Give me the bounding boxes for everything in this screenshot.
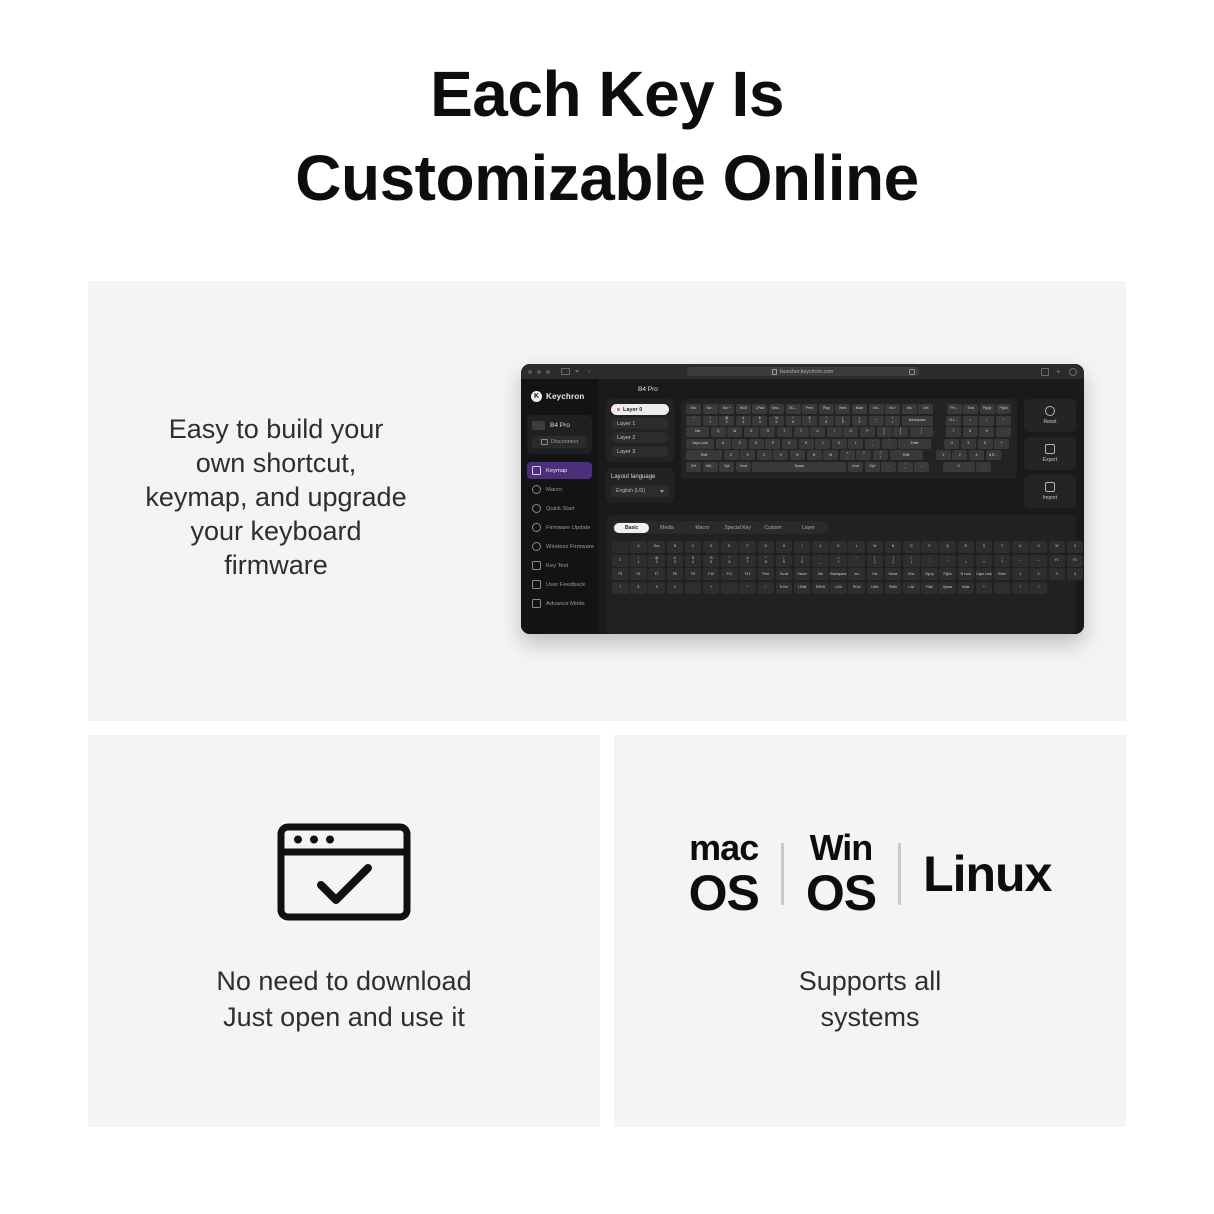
palette-key[interactable]: 4 [1067,568,1084,580]
top-copy-line-1: Easy to build your [106,412,446,446]
refresh-icon[interactable] [909,369,915,375]
sidebar-item-icon [532,542,541,551]
palette-key[interactable]: P [921,541,938,553]
palette-key[interactable]: 2 [612,555,629,567]
layout-language-select[interactable]: English (US) [611,485,669,497]
sidebar-toggle-icon[interactable] [561,368,570,375]
palette-key[interactable]: R [958,541,975,553]
keyboard-key[interactable]: Z [724,450,739,460]
palette-key[interactable]: Space [939,582,956,594]
top-copy-line-2: own shortcut, [106,446,446,480]
palette-key[interactable]: #3 [667,555,684,567]
palette-key[interactable]: %5 [703,555,720,567]
os-logo-top-text: Win [810,830,873,866]
keyboard-key[interactable]: C [757,450,772,460]
keyboard-key[interactable]: * [996,416,1011,426]
layer-label: Layer 1 [617,421,635,427]
palette-key[interactable]: LCtrl [830,582,847,594]
layer-item-layer-1[interactable]: Layer 1 [611,418,669,429]
plug-icon [541,439,548,445]
palette-key[interactable]: ;: [921,555,938,567]
keyboard-key[interactable]: 6 [978,439,993,449]
palette-key[interactable]: RCtrl [848,582,865,594]
sidebar-item-user-feedback[interactable]: User Feedback [527,576,592,593]
os-logo-top-text: mac [689,830,758,866]
palette-key[interactable]: M [867,541,884,553]
palette-key[interactable]: L [848,541,865,553]
tab-macro[interactable]: Macro [685,523,720,533]
keyboard-key[interactable]: A [716,439,731,449]
keyboard-key[interactable]: Tab [686,427,709,437]
palette-key[interactable]: Esc [648,541,665,553]
page-title: Each Key Is Customizable Online [0,52,1214,220]
br-caption-line-1: Supports all [614,963,1126,999]
palette-key[interactable]: LAlt [903,582,920,594]
page-root: Each Key Is Customizable Online Easy to … [0,0,1214,1214]
keyboard-gap [931,462,941,472]
keyboard-key[interactable]: |\ [910,427,933,437]
palette-key[interactable]: Scroll [776,568,793,580]
palette-key[interactable]: J [812,541,829,553]
keyboard-key[interactable]: Shift [686,450,722,460]
keyboard-key[interactable]: ~` [686,416,701,426]
sidebar-item-label: Macro [546,487,562,493]
tab-overview-icon[interactable] [1069,368,1077,376]
palette-key[interactable]: F2 [1067,555,1084,567]
layer-active-dot-icon [617,408,620,411]
palette-key[interactable]: → [1030,555,1047,567]
palette-key[interactable]: Pause [794,568,811,580]
palette-key[interactable]: 9 [648,582,665,594]
keyboard-key[interactable]: Mute [852,404,867,414]
share-icon[interactable] [1041,368,1049,376]
new-tab-icon[interactable]: + [1056,369,1062,375]
sidebar-item-firmware-update[interactable]: Firmware Update [527,519,592,536]
palette-key[interactable]: Enter [994,568,1011,580]
keyboard-key[interactable]: >. [856,450,871,460]
keyboard-key[interactable]: - [996,427,1011,437]
palette-key[interactable]: D [703,541,720,553]
keyboard-key[interactable]: #3 [736,416,751,426]
keyboard-key[interactable]: MCtl [736,404,751,414]
keyboard-row: TabQWERTYUIOP{[}]|\789- [686,427,1012,437]
traffic-light-close-icon[interactable] [528,370,532,374]
palette-key[interactable]: X [1067,541,1084,553]
keyboard-key[interactable]: Shift [890,450,923,460]
top-copy-line-3: keymap, and upgrade [106,480,446,514]
export-icon [1045,444,1055,454]
keyboard-key[interactable]: :; [865,439,880,449]
keyboard-key[interactable]: $4 [752,416,767,426]
keyboard-key[interactable]: Esc [686,404,701,414]
keyboard-key[interactable]: Scr - [703,404,718,414]
keyboard-key[interactable]: R [760,427,775,437]
keyboard-key[interactable]: Prev [802,404,817,414]
keyboard-key[interactable]: 0 [943,462,975,472]
sidebar-item-quick-start[interactable]: Quick Start [527,500,592,517]
browser-check-icon [276,822,412,922]
os-logo-linux: Linux [923,849,1051,899]
keyboard-key[interactable]: !1 [703,416,718,426]
keyboard-key[interactable]: Del [918,404,933,414]
keyboard-gap [934,427,944,437]
palette-key[interactable]: ~` [848,555,865,567]
palette-key[interactable]: Backspace [830,568,847,580]
palette-key[interactable]: F7 [648,568,665,580]
os-logo-separator [781,843,784,905]
keyboard-key[interactable]: 2 [952,450,967,460]
keyboard-key[interactable]: Play [819,404,834,414]
palette-key[interactable]: ]} [885,555,902,567]
keyboard-key[interactable]: Caps Lock [686,439,714,449]
palette-key[interactable]: (9 [776,555,793,567]
palette-key[interactable]: * [739,582,756,594]
palette-key[interactable]: K [830,541,847,553]
sidebar-item-label: Firmware Update [546,525,590,531]
keyboard-key[interactable]: W [727,427,742,437]
chevron-down-icon[interactable] [575,370,579,373]
top-card-copy: Easy to build your own shortcut, keymap,… [106,412,446,582]
keyboard-key[interactable]: N E... [986,450,1001,460]
keyboard-key[interactable]: 9 [979,427,994,437]
keyboard-key[interactable]: ?/ [873,450,888,460]
sidebar-item-label: Key Test [546,563,568,569]
keyboard-key[interactable]: 8 [963,427,978,437]
keyboard-key[interactable]: PgDn [996,404,1011,414]
keyboard-key[interactable]: B [790,450,805,460]
palette-key[interactable]: /? [994,555,1011,567]
palette-key[interactable]: A [630,541,647,553]
palette-key[interactable]: ,< [958,555,975,567]
browser-titlebar: ‹ launcher.keychron.com + [521,364,1084,379]
back-arrow-icon[interactable]: ‹ [588,368,590,375]
layer-panel: Layer 0Layer 1Layer 2Layer 3 Layout lang… [606,399,674,503]
palette-key[interactable]: Print [758,568,775,580]
palette-key[interactable]: I [794,541,811,553]
keyboard-key[interactable]: M [823,450,838,460]
keyboard-key[interactable]: ^6 [786,416,801,426]
keyboard-key[interactable]: = [963,416,978,426]
palette-key[interactable]: -_ [812,555,829,567]
keyboard-key[interactable]: Q [711,427,726,437]
os-logo-mac: macOS [689,830,759,918]
keyboard-key[interactable]: += [885,416,900,426]
palette-key[interactable]: F1 [1049,555,1066,567]
keyboard-key[interactable]: → [914,462,929,472]
palette-key[interactable]: F [739,541,756,553]
palette-key[interactable]: PgDn [939,568,956,580]
address-bar[interactable]: launcher.keychron.com [687,367,919,376]
palette-key[interactable]: RWin [885,582,902,594]
keyboard-key[interactable]: "' [882,439,897,449]
disconnect-button[interactable]: Disconnect [532,436,587,448]
palette-key[interactable]: Caps Lock [976,568,993,580]
keyboard-key[interactable]: U [810,427,825,437]
palette-key[interactable]: @2 [648,555,665,567]
palette-key[interactable]: *8 [758,555,775,567]
keyboard-key[interactable]: 5 [961,439,976,449]
keyboard-row: Caps LockASDFGHJKL:;"'Enter456+ [686,439,1012,449]
keyboard-key[interactable]: N L... [946,416,961,426]
keyboard-key[interactable]: V [773,450,788,460]
palette-key[interactable]: End [903,568,920,580]
palette-key[interactable]: - [721,582,738,594]
palette-key[interactable]: . [685,582,702,594]
keyboard-key[interactable]: Prt... [947,404,962,414]
keyboard-key[interactable]: + [994,439,1009,449]
palette-key[interactable]: ? [1030,582,1047,594]
palette-key[interactable]: T [994,541,1011,553]
keyboard-key[interactable]: Vol + [885,404,900,414]
palette-key[interactable]: 0 [667,582,684,594]
palette-key[interactable]: 8 [630,582,647,594]
keyboard-key[interactable]: O [843,427,858,437]
keyboard-key[interactable]: H [799,439,814,449]
palette-key[interactable]: S [976,541,993,553]
layer-item-layer-3[interactable]: Layer 3 [611,446,669,457]
sidebar-item-icon [532,504,541,513]
keyboard-key[interactable]: Cmd [848,462,863,472]
action-label: Import [1043,495,1057,501]
keyboard-row: ~`!1@2#3$4%5^6&7*8(9)0_-+=BackspaceN L..… [686,416,1012,426]
layer-item-layer-0[interactable]: Layer 0 [611,404,669,415]
keyboard-key[interactable]: SC... [786,404,801,414]
keyboard-key[interactable]: MO... [703,462,718,472]
keyboard-key[interactable]: N [807,450,822,460]
palette-key-blank[interactable] [612,541,629,553]
keyboard-key[interactable]: Enter [898,439,931,449]
palette-key[interactable]: ^6 [721,555,738,567]
tab-basic[interactable]: Basic [614,523,649,533]
tab-custom[interactable]: Custom [755,523,790,533]
palette-key[interactable]: [{ [867,555,884,567]
palette-key[interactable]: N Lock [958,568,975,580]
palette-key[interactable]: Mute [958,582,975,594]
keyboard-key[interactable]: I [827,427,842,437]
keyboard-key[interactable]: F [765,439,780,449]
device-name: B4 Pro [550,422,570,429]
sidebar-item-keymap[interactable]: Keymap [527,462,592,479]
keyboard-key[interactable]: Next [835,404,850,414]
sidebar-item-label: Keymap [546,468,567,474]
palette-key[interactable]: W [1049,541,1066,553]
keyboard-key[interactable]: LPad [752,404,767,414]
keyboard-key[interactable]: P [860,427,875,437]
keyboard-key[interactable]: @2 [719,416,734,426]
app-main: B4 Pro Layer 0Layer 1Layer 2Layer 3 Layo… [598,379,1084,634]
palette-key[interactable]: V [1030,541,1047,553]
keyboard-key[interactable]: {[ [877,427,892,437]
keyboard-key[interactable]: S [732,439,747,449]
tab-layer[interactable]: Layer [791,523,826,533]
palette-key[interactable]: =+ [830,555,847,567]
keyboard-key[interactable]: Vol - [869,404,884,414]
sidebar-item-icon [532,466,541,475]
palette-row: 7890.+-*/N EntLShiftRShiftLCtrlRCtrlLWin… [612,582,1070,594]
palette-key[interactable]: B [667,541,684,553]
keyboard-key[interactable]: }] [893,427,908,437]
keyboard-row: EscScr -Scr +MCtlLPadSea...SC...PrevPlay… [686,404,1012,414]
palette-key[interactable]: 3 [1049,568,1066,580]
palette-tabs: BasicMediaMacroSpecial KeyCustomLayer [612,521,828,534]
keyboard-key[interactable]: )0 [852,416,867,426]
palette-key[interactable]: N [885,541,902,553]
keyboard-key[interactable]: 7 [946,427,961,437]
palette-key[interactable]: U [1012,541,1029,553]
palette-key[interactable]: Home [885,568,902,580]
palette-key[interactable]: RShift [812,582,829,594]
palette-key[interactable]: !1 [630,555,647,567]
keyboard-key[interactable]: ↑↓ [898,462,913,472]
palette-key[interactable]: + [976,582,993,594]
keyboard-key[interactable]: Ctrl [686,462,701,472]
reset-button[interactable]: Reset [1024,399,1076,432]
layer-item-layer-2[interactable]: Layer 2 [611,432,669,443]
palette-key[interactable]: G [758,541,775,553]
sidebar-item-macro[interactable]: Macro [527,481,592,498]
keyboard-key[interactable]: Opt [719,462,734,472]
chevron-down-icon [660,490,664,493]
keyboard-key[interactable]: Ins [902,404,917,414]
sidebar-item-label: Advance Mode [546,601,585,607]
keyboard-key[interactable]: L [848,439,863,449]
keyboard-map[interactable]: EscScr -Scr +MCtlLPadSea...SC...PrevPlay… [681,399,1017,479]
lock-icon [772,369,777,375]
palette-key[interactable]: Q [939,541,956,553]
palette-key[interactable]: &7 [739,555,756,567]
keyboard-key[interactable]: 4 [944,439,959,449]
palette-key[interactable]: )0 [794,555,811,567]
keyboard-key[interactable]: <, [840,450,855,460]
palette-key[interactable]: LWin [867,582,884,594]
palette-key[interactable]: - [994,582,1011,594]
keyboard-gap [935,404,945,414]
keyboard-key[interactable]: PgUp [980,404,995,414]
palette-key[interactable]: F12 [739,568,756,580]
keyboard-key[interactable]: (9 [835,416,850,426]
palette-key[interactable]: $4 [685,555,702,567]
top-copy-line-4: your keyboard [106,514,446,548]
palette-key[interactable]: 7 [612,582,629,594]
palette-key[interactable]: \| [903,555,920,567]
traffic-light-zoom-icon[interactable] [546,370,550,374]
palette-key[interactable]: LShift [794,582,811,594]
br-caption-line-2: systems [614,999,1126,1035]
keyboard-key[interactable]: D [749,439,764,449]
palette-key[interactable]: 2 [1030,568,1047,580]
palette-key[interactable]: ? [1012,582,1029,594]
palette-key[interactable]: .> [976,555,993,567]
keyboard-key[interactable]: End [963,404,978,414]
address-bar-url: launcher.keychron.com [780,369,834,375]
keyboard-key[interactable]: 3 [969,450,984,460]
keyboard-key[interactable]: Sea... [769,404,784,414]
keyboard-gap [933,439,943,449]
os-logo-bottom-text: OS [806,868,876,918]
sidebar-item-advance-mode[interactable]: Advance Mode [527,595,592,612]
traffic-light-minimize-icon[interactable] [537,370,541,374]
keyboard-row: ShiftZXCVBNM<,>.?/Shift123N E... [686,450,1012,460]
page-title-line-2: Customizable Online [0,136,1214,220]
os-logo-bottom-text: OS [689,868,759,918]
keyboard-key[interactable]: Backspace [902,416,933,426]
keyboard-key[interactable]: E [744,427,759,437]
palette-key[interactable]: ← [1012,555,1029,567]
keyboard-key[interactable]: 1 [936,450,951,460]
palette-key[interactable]: N Ent [776,582,793,594]
import-button[interactable]: Import [1024,475,1076,508]
sidebar-item-icon [532,599,541,608]
palette-key[interactable]: '" [939,555,956,567]
device-card: B4 Pro Disconnect [527,415,592,454]
palette-key[interactable]: H [776,541,793,553]
layout-language-value: English (US) [616,488,645,494]
feature-card-bottom-right [614,735,1126,1127]
keyboard-key[interactable]: X [740,450,755,460]
palette-key[interactable]: F11 [721,568,738,580]
sidebar-item-key-test[interactable]: Key Test [527,557,592,574]
keyboard-key[interactable]: J [815,439,830,449]
keyboard-key[interactable]: T [777,427,792,437]
keyboard-key[interactable]: _- [869,416,884,426]
keyboard-key[interactable]: G [782,439,797,449]
palette-key[interactable]: + [703,582,720,594]
palette-key[interactable]: F9 [685,568,702,580]
palette-key[interactable]: / [758,582,775,594]
keyboard-key[interactable]: *8 [819,416,834,426]
keyboard-key[interactable]: Scr + [719,404,734,414]
keyboard-key[interactable]: / [979,416,994,426]
tab-media[interactable]: Media [649,523,684,533]
layer-list: Layer 0Layer 1Layer 2Layer 3 [606,399,674,462]
keyboard-key[interactable]: . [976,462,991,472]
keyboard-key[interactable]: Space [752,462,846,472]
palette-key[interactable]: F8 [667,568,684,580]
sidebar-item-icon [532,485,541,494]
keyboard-key[interactable]: %5 [769,416,784,426]
palette-key[interactable]: Tab [812,568,829,580]
keyboard-key[interactable]: ← [881,462,896,472]
palette-key[interactable]: F10 [703,568,720,580]
keyboard-key[interactable]: K [832,439,847,449]
action-buttons: ResetExportImport [1024,399,1076,508]
palette-key[interactable]: PgUp [921,568,938,580]
palette-key[interactable]: O [903,541,920,553]
tab-special-key[interactable]: Special Key [720,523,755,533]
keyboard-key[interactable]: &7 [802,416,817,426]
sidebar-item-label: User Feedback [546,582,585,588]
keyboard-key[interactable]: Y [794,427,809,437]
feature-card-bottom-left [88,735,600,1127]
keyboard-key[interactable]: Cmd [736,462,751,472]
palette-key[interactable]: F6 [630,568,647,580]
import-icon [1045,482,1055,492]
palette-key[interactable]: C [685,541,702,553]
browser-toolbar-right: + [1041,368,1077,376]
palette-grid[interactable]: AEscBCDEFGHIJKLMNOPQRSTUVWXYZ2!1@2#3$4%5… [612,541,1070,594]
palette-key[interactable]: Del [867,568,884,580]
palette-key[interactable]: 1 [1012,568,1029,580]
palette-key[interactable]: E [721,541,738,553]
export-button[interactable]: Export [1024,437,1076,470]
main-title: B4 Pro [638,386,1076,393]
palette-key[interactable]: Ins [848,568,865,580]
disconnect-label: Disconnect [551,439,578,445]
keyboard-key[interactable]: Opt [865,462,880,472]
palette-key[interactable]: F5 [612,568,629,580]
sidebar-item-wireless-firmware[interactable]: Wireless Firmware [527,538,592,555]
palette-key[interactable]: RAlt [921,582,938,594]
